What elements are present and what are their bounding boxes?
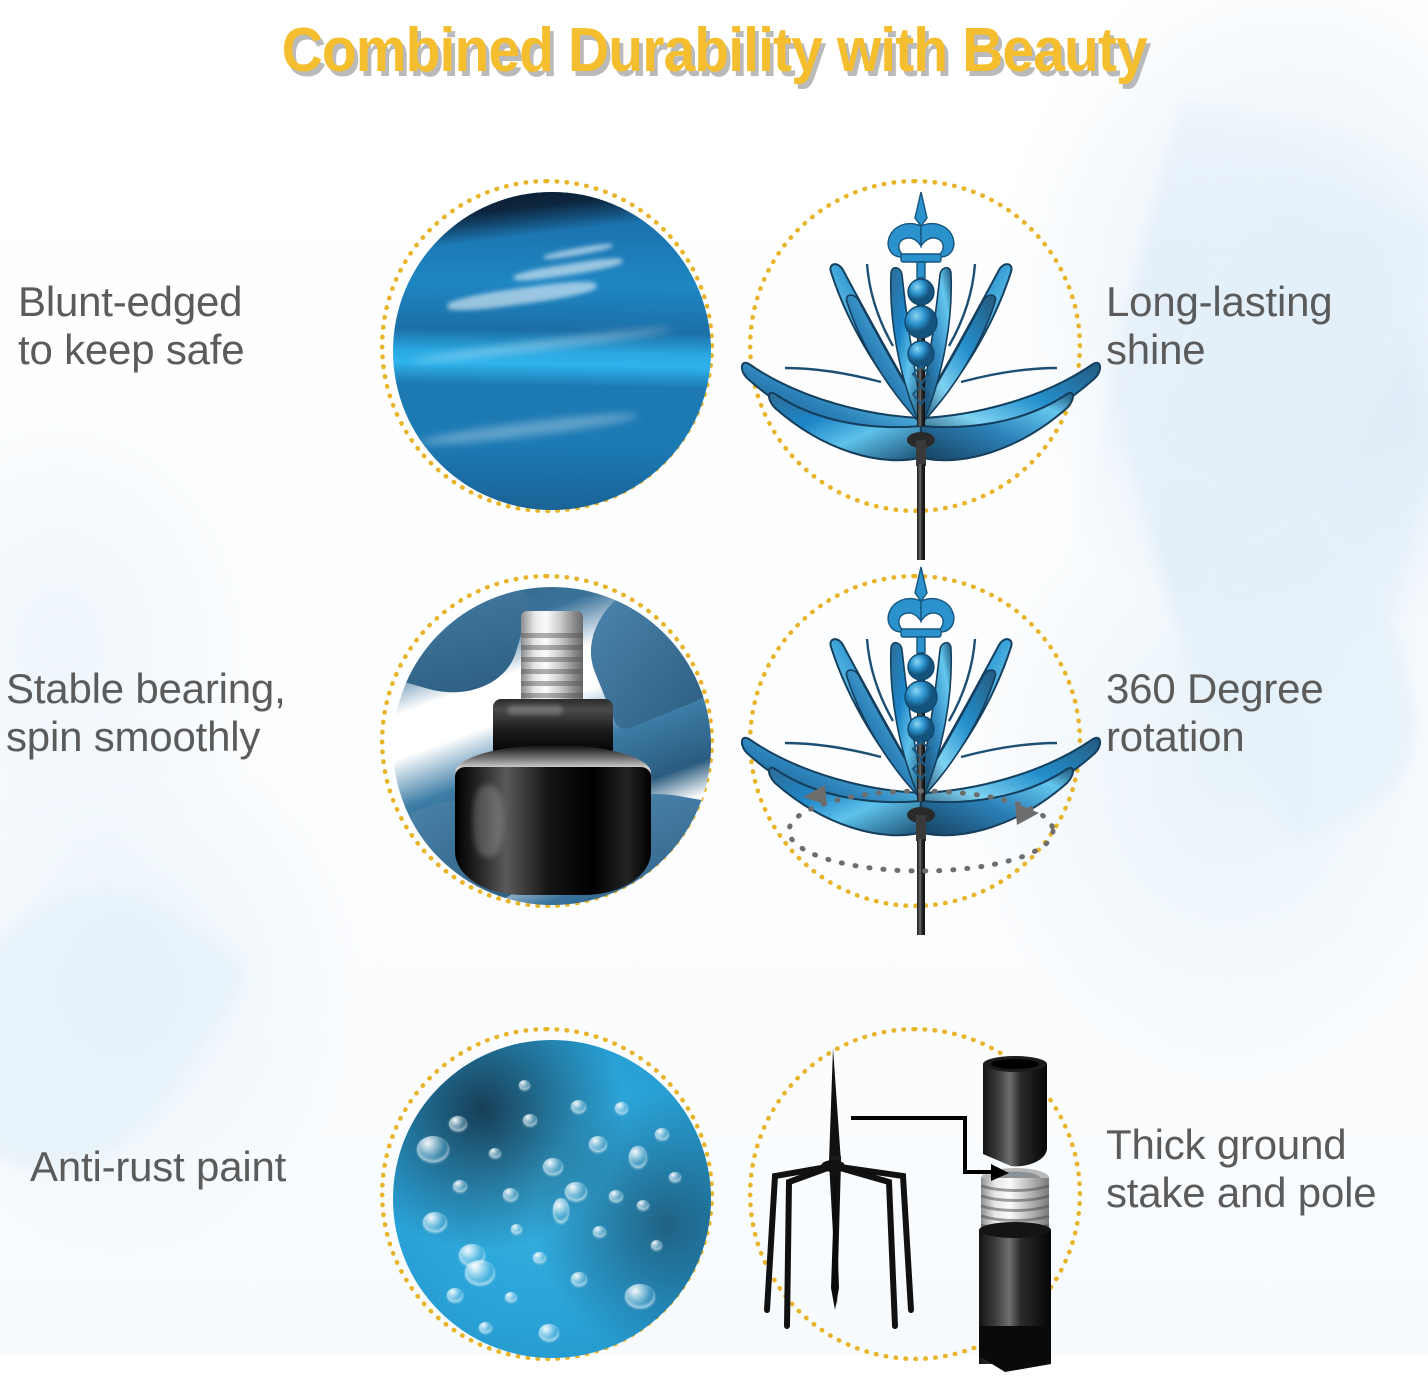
water-droplet [651,1240,662,1250]
feature-circle-long-lasting-shine [748,179,1082,513]
water-droplet [543,1158,563,1175]
water-droplet [479,1322,492,1333]
feature-circle-blunt-edged [380,179,714,513]
water-droplet [565,1182,587,1201]
water-droplet [629,1146,647,1168]
page-title-text: Combined Durability with Beauty [281,15,1146,86]
water-droplet [553,1198,569,1223]
water-droplet [423,1212,447,1232]
water-droplet [511,1224,522,1234]
page-title: Combined Durability with Beauty [0,0,1428,100]
feature-label-stable-bearing: Stable bearing, spin smoothly [6,665,366,761]
feature-circle-360-rotation [748,574,1082,908]
finial-sphere-2 [905,306,937,338]
fleur-de-lis-icon-2 [888,567,954,653]
water-droplet [625,1284,655,1308]
finial-sphere-2 [905,681,937,713]
feature-label-anti-rust-paint: Anti-rust paint [30,1143,380,1191]
callout-connector-line [851,1118,991,1172]
water-droplet [615,1102,628,1114]
rotation-arrowhead-right [1015,803,1039,825]
water-droplet [669,1172,681,1182]
blue-painted-surface [393,1040,711,1358]
wind-spinner-with-rotation-arrows [761,587,1079,905]
feature-long-lasting-shine: Long-lasting shine [714,150,1428,542]
pole-upper-segment [983,1056,1047,1166]
black-bearing-with-chrome-bolt-photo [393,587,711,905]
ground-stake-icon [767,1048,911,1326]
finial-sphere-3 [908,341,934,367]
feature-label-long-lasting-shine: Long-lasting shine [1106,278,1428,374]
feature-label-blunt-edged: Blunt-edged to keep safe [18,278,348,374]
water-droplet [447,1288,463,1302]
water-droplet [533,1252,546,1263]
feature-row-1: Blunt-edged to keep safe [0,150,1428,542]
water-droplet [539,1324,559,1341]
fleur-de-lis-icon [888,192,954,278]
feature-row-2: Stable bearing, spin smoothly [0,545,1428,937]
stake-pole-svg [755,1026,1095,1376]
feature-anti-rust-paint: Anti-rust paint [0,955,714,1347]
water-droplet [505,1292,517,1302]
feature-circle-stable-bearing [380,574,714,908]
feature-label-360-rotation: 360 Degree rotation [1106,665,1428,761]
water-droplet [593,1226,606,1237]
feature-thick-ground-stake-and-pole: Thick ground stake and pole [714,955,1428,1347]
wind-spinner-graphic [731,168,1111,560]
water-droplet [453,1180,467,1192]
pole-lower-segment [979,1168,1051,1372]
water-droplet [417,1136,449,1162]
water-droplet [489,1148,501,1158]
water-droplet [637,1200,649,1210]
water-droplet [571,1100,586,1113]
feature-360-rotation: 360 Degree rotation [714,545,1428,937]
water-droplet [449,1116,467,1131]
feature-stable-bearing: Stable bearing, spin smoothly [0,545,714,937]
water-droplet [609,1190,623,1202]
rotation-arrow-ellipse [779,783,1063,879]
feature-blunt-edged: Blunt-edged to keep safe [0,150,714,542]
water-droplet [465,1260,495,1285]
finial-sphere-1 [908,654,934,680]
water-beads-on-blue-paint-photo [393,1040,711,1358]
water-droplet [571,1272,587,1286]
rotation-arrowhead-left [803,785,827,805]
feature-label-stake-and-pole: Thick ground stake and pole [1106,1121,1428,1217]
feature-row-3: Anti-rust paint [0,955,1428,1347]
glossy-blue-metal-edge-photo [393,192,711,510]
water-droplet [589,1136,607,1152]
water-droplet [519,1080,530,1090]
wind-spinner-svg [731,168,1111,560]
finial-sphere-3 [908,716,934,742]
feature-circle-anti-rust-paint [380,1027,714,1361]
water-droplet [503,1188,518,1201]
feature-circle-stake-and-pole [748,1027,1082,1361]
black-bearing-housing [455,767,651,895]
stake-pole-graphic [755,1026,1095,1376]
water-droplet [655,1128,669,1140]
ground-stake-and-threaded-pole-diagram [761,1040,1079,1358]
rotation-dotted-ellipse [789,791,1053,871]
finial-sphere-1 [908,279,934,305]
rotation-arrows-svg [779,783,1063,879]
water-droplet [523,1114,537,1126]
blue-wind-spinner-illustration [761,192,1079,510]
